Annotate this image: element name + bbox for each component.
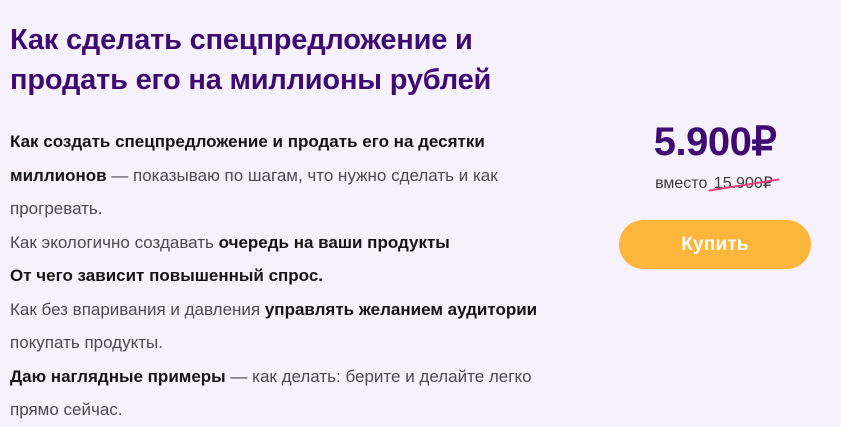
text-emphasis: управлять желанием аудитории [265,300,537,319]
promo-description-line: Даю наглядные примеры — как делать: бери… [10,360,570,427]
promo-description-line: От чего зависит повышенный спрос. [10,259,570,293]
promo-card: Как сделать спецпредложение и продать ег… [0,0,841,415]
promo-description-line: Как экологично создавать очередь на ваши… [10,226,570,260]
page-title-line-1: Как сделать спецпредложение и [10,20,570,60]
promo-description-line: Как создать спецпредложение и продать ег… [10,125,570,226]
price-old-prefix: вместо [655,175,707,192]
offer-column: 5.900₽ вместо 15.900₽ Купить [600,118,830,269]
text-regular: Как без впаривания и давления [10,300,265,319]
price-old-value: 15.900₽ [712,174,775,194]
text-emphasis: От чего зависит повышенный спрос. [10,266,323,285]
text-emphasis: очередь на ваши продукты [219,233,450,252]
promo-description-line: Как без впаривания и давления управлять … [10,293,570,360]
text-emphasis: Даю наглядные примеры [10,367,226,386]
promo-description: Как создать спецпредложение и продать ег… [10,125,570,427]
page-title: Как сделать спецпредложение и продать ег… [10,20,570,100]
text-regular: покупать продукты. [10,333,163,352]
page-title-line-2: продать его на миллионы рублей [10,60,570,100]
buy-button[interactable]: Купить [619,220,811,269]
text-regular: Как экологично создавать [10,233,219,252]
price-old-row: вместо 15.900₽ [600,174,830,194]
price-current: 5.900₽ [600,118,830,166]
